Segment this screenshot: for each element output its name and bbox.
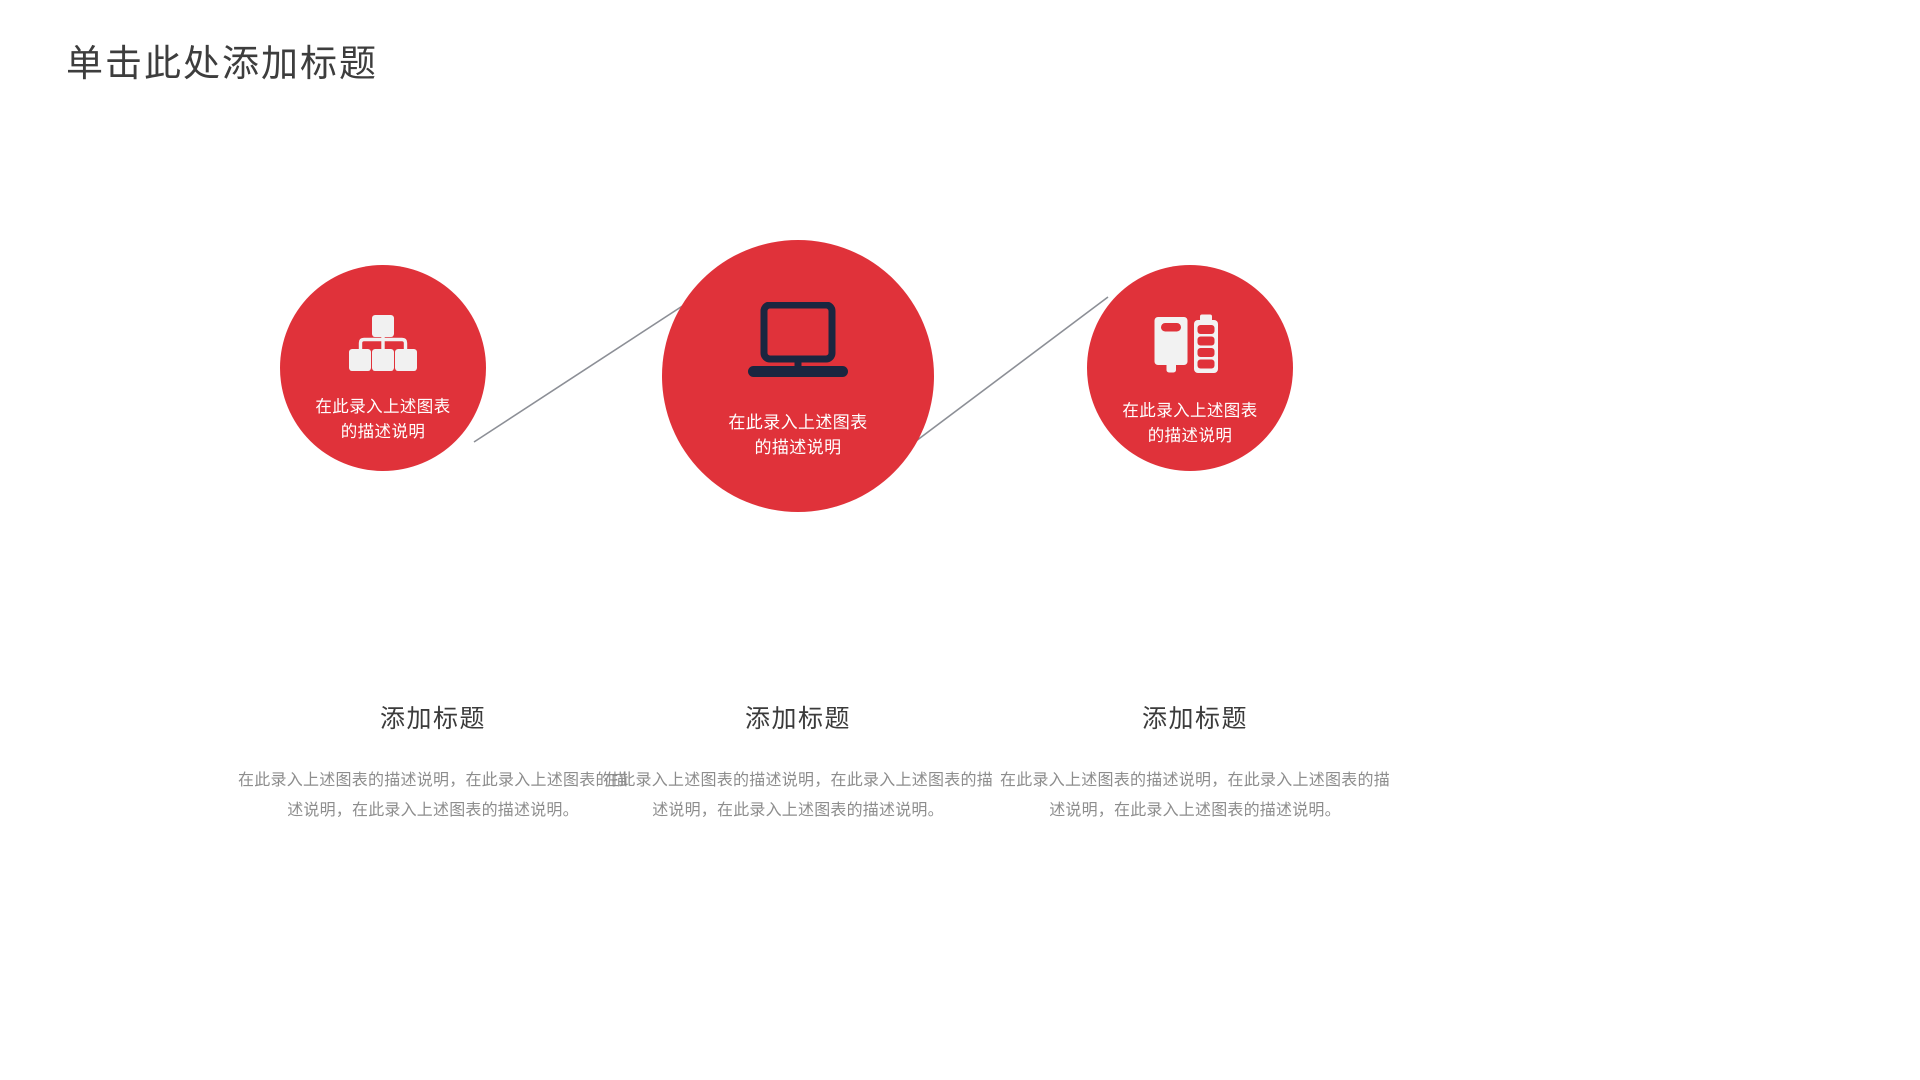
battery-pack-icon [1150, 313, 1230, 377]
laptop-icon [746, 302, 850, 384]
feature-description-3: 在此录入上述图表的描述说明，在此录入上述图表的描述说明，在此录入上述图表的描述说… [1000, 766, 1390, 826]
circle-caption-1-line1: 在此录入上述图表 [298, 395, 468, 420]
circle-caption-1-line2: 的描述说明 [298, 420, 468, 445]
feature-title-2: 添加标题 [603, 702, 993, 736]
slide-canvas: 单击此处添加标题 在此录入上述图表 的描述说明 [0, 0, 1920, 1080]
feature-block-2: 添加标题 在此录入上述图表的描述说明，在此录入上述图表的描述说明，在此录入上述图… [603, 702, 993, 826]
circle-caption-2-line1: 在此录入上述图表 [680, 410, 916, 435]
circle-caption-2-line2: 的描述说明 [680, 435, 916, 460]
feature-description-2: 在此录入上述图表的描述说明，在此录入上述图表的描述说明，在此录入上述图表的描述说… [603, 766, 993, 826]
page-title: 单击此处添加标题 [66, 42, 378, 88]
feature-block-1: 添加标题 在此录入上述图表的描述说明，在此录入上述图表的描述说明，在此录入上述图… [238, 702, 628, 826]
org-chart-icon [346, 313, 420, 373]
feature-circle-3[interactable]: 在此录入上述图表 的描述说明 [1087, 265, 1293, 471]
feature-circle-2[interactable]: 在此录入上述图表 的描述说明 [662, 240, 934, 512]
circle-caption-1: 在此录入上述图表 的描述说明 [280, 395, 486, 445]
feature-circle-1[interactable]: 在此录入上述图表 的描述说明 [280, 265, 486, 471]
circle-caption-3: 在此录入上述图表 的描述说明 [1087, 399, 1293, 449]
feature-block-3: 添加标题 在此录入上述图表的描述说明，在此录入上述图表的描述说明，在此录入上述图… [1000, 702, 1390, 826]
circle-caption-2: 在此录入上述图表 的描述说明 [662, 410, 934, 460]
feature-title-1: 添加标题 [238, 702, 628, 736]
feature-title-3: 添加标题 [1000, 702, 1390, 736]
circle-caption-3-line2: 的描述说明 [1105, 424, 1275, 449]
connector-lines [0, 0, 1920, 1080]
feature-description-1: 在此录入上述图表的描述说明，在此录入上述图表的描述说明，在此录入上述图表的描述说… [238, 766, 628, 826]
circle-caption-3-line1: 在此录入上述图表 [1105, 399, 1275, 424]
